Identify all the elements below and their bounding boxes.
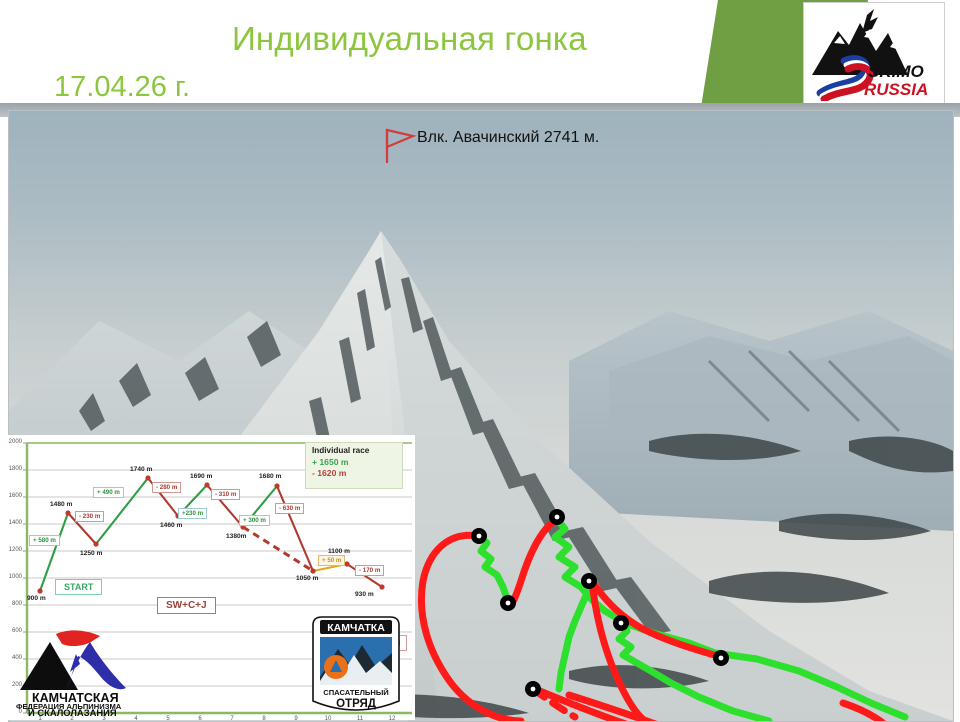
point-label-1250: 1250 m [80, 550, 102, 557]
segment-delta-9: + 50 m [318, 555, 345, 566]
page-subtitle-date: 17.04.26 г. [54, 70, 190, 103]
peak-caption: Влк. Авачинский 2741 м. [417, 129, 599, 147]
segment-delta-2: - 230 m [75, 511, 104, 522]
y-tick-1400: 1400 [0, 520, 22, 526]
y-tick-1000: 1000 [0, 574, 22, 580]
segment-delta-6: - 310 m [211, 489, 240, 500]
y-tick-800: 800 [0, 601, 22, 607]
x-tick-6: 6 [193, 716, 207, 720]
point-label-930: 930 m [355, 591, 374, 598]
segment-delta-7: + 300 m [239, 515, 270, 526]
chart-sw-badge: SW+C+J [157, 597, 216, 614]
chart-legend: Individual race + 1650 m - 1620 m [305, 442, 403, 489]
segment-delta-10: - 170 m [355, 565, 384, 576]
legend-title: Individual race [312, 446, 396, 455]
legend-loss: - 1620 m [312, 468, 396, 478]
x-tick-10: 10 [321, 716, 335, 720]
point-label-1680: 1680 m [259, 473, 281, 480]
x-tick-3: 3 [97, 716, 111, 720]
y-tick-1800: 1800 [0, 466, 22, 472]
point-label-1460: 1460 m [160, 522, 182, 529]
point-label-1740: 1740 m [130, 466, 152, 473]
chart-start-badge: START [55, 579, 102, 595]
x-tick-7: 7 [225, 716, 239, 720]
x-tick-12: 12 [385, 716, 399, 720]
segment-delta-1: + 580 m [29, 535, 60, 546]
summit-flag-icon [387, 129, 413, 163]
elevation-profile-chart: 2000 1800 1600 1400 1200 1000 800 600 40… [0, 435, 415, 720]
x-tick-11: 11 [353, 716, 367, 720]
x-tick-9: 9 [289, 716, 303, 720]
svg-text:ОТРЯД: ОТРЯД [336, 698, 376, 710]
kamchatka-rescue-logo: КАМЧАТКА СПАСАТЕЛЬНЫЙ ОТРЯД [310, 615, 402, 715]
point-label-1480: 1480 m [50, 501, 72, 508]
slide: Индивидуальная гонка 17.04.26 г. SKIMO R… [0, 0, 960, 720]
kamchatka-federation-logo: КАМЧАТСКАЯ ФЕДЕРАЦИЯ АЛЬПИНИЗМА И СКАЛОЛ… [14, 628, 142, 716]
segment-delta-4: - 280 m [152, 482, 181, 493]
skimo-russia-logo: SKIMO RUSSIA [803, 2, 945, 103]
x-tick-2: 2 [65, 716, 79, 720]
x-tick-1: 1 [33, 716, 47, 720]
legend-gain: + 1650 m [312, 457, 396, 467]
svg-text:КАМЧАТКА: КАМЧАТКА [327, 622, 385, 634]
slide-header: Индивидуальная гонка 17.04.26 г. SKIMO R… [0, 0, 960, 103]
page-title: Индивидуальная гонка [232, 20, 712, 58]
segment-delta-5: +230 m [178, 508, 207, 519]
svg-text:СПАСАТЕЛЬНЫЙ: СПАСАТЕЛЬНЫЙ [323, 688, 389, 697]
x-tick-8: 8 [257, 716, 271, 720]
point-label-1100: 1100 m [328, 548, 350, 555]
point-label-1380: 1380m [226, 533, 247, 540]
svg-text:И СКАЛОЛАЗАНИЯ: И СКАЛОЛАЗАНИЯ [28, 707, 117, 716]
point-label-1050: 1050 m [296, 575, 318, 582]
segment-delta-8: - 630 m [275, 503, 304, 514]
x-tick-5: 5 [161, 716, 175, 720]
point-label-900: 900 m [27, 595, 46, 602]
segment-delta-3: + 490 m [93, 487, 124, 498]
y-tick-2000: 2000 [0, 439, 22, 445]
x-tick-4: 4 [129, 716, 143, 720]
point-label-1690: 1690 m [190, 473, 212, 480]
y-tick-1600: 1600 [0, 493, 22, 499]
y-tick-1200: 1200 [0, 547, 22, 553]
svg-text:RUSSIA: RUSSIA [864, 80, 928, 99]
svg-text:SKIMO: SKIMO [868, 62, 924, 81]
